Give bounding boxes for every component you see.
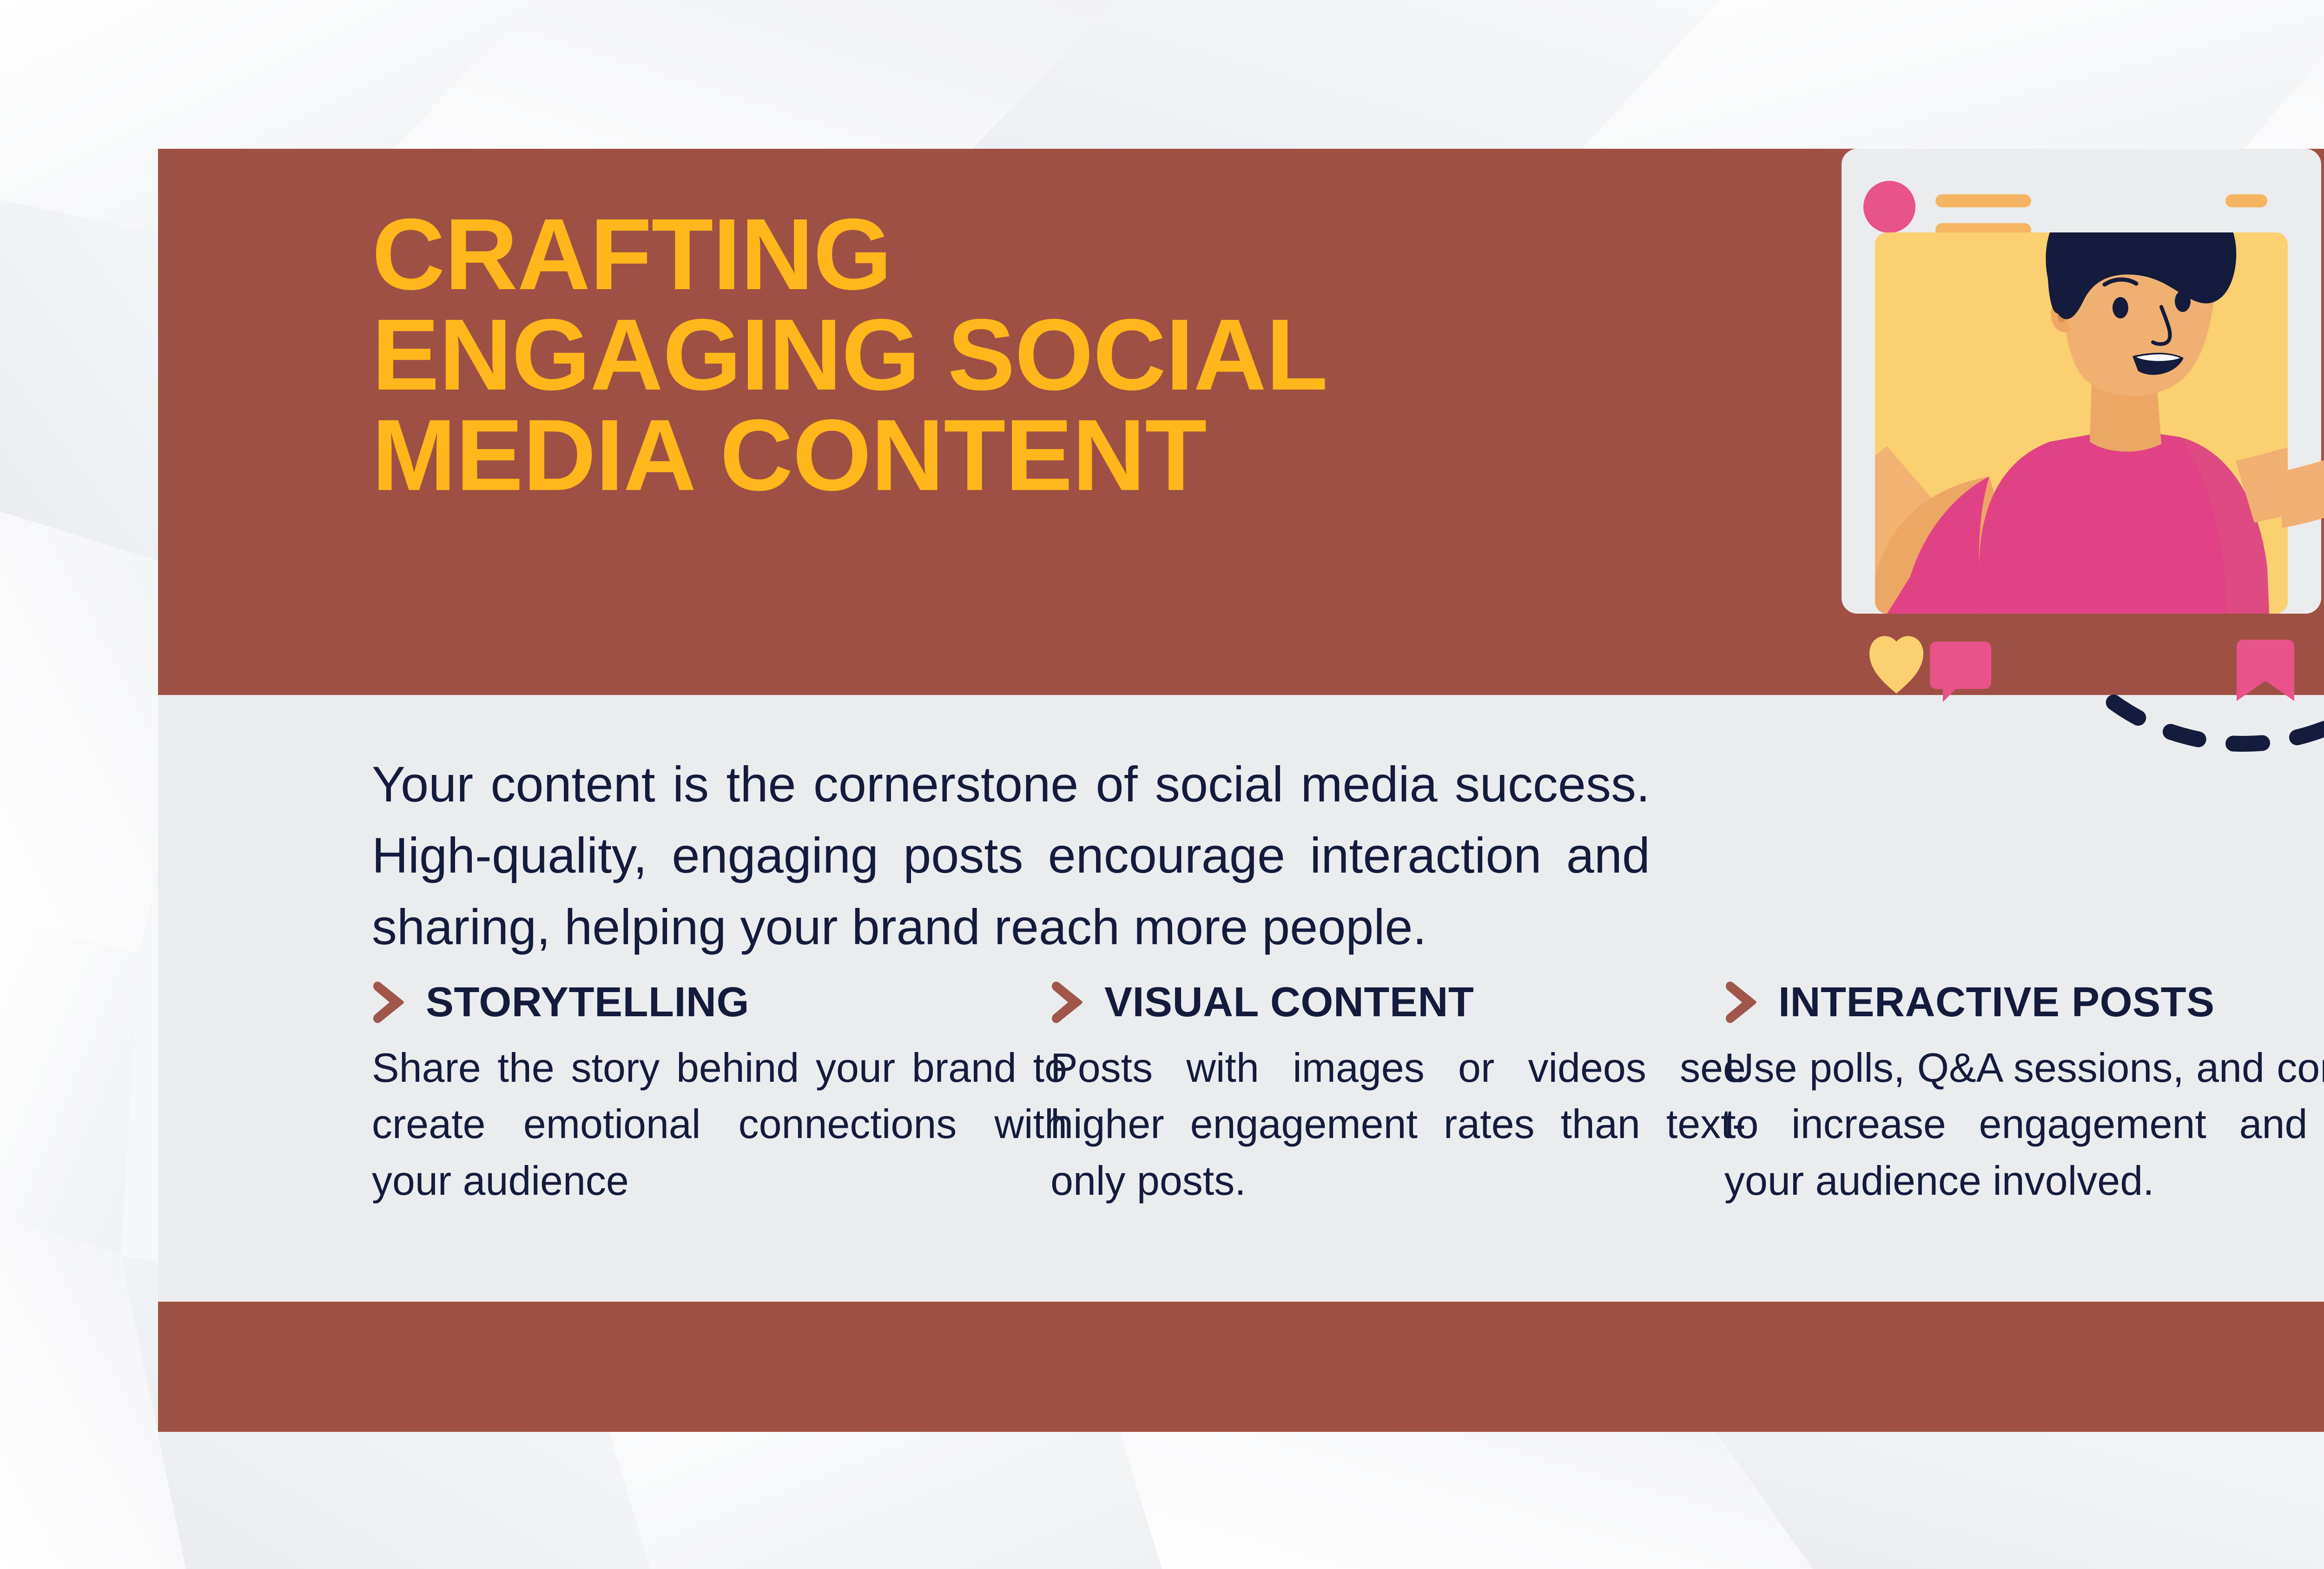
feature-title: INTERACTIVE POSTS xyxy=(1778,979,2215,1026)
feature-title: VISUAL CONTENT xyxy=(1104,979,1474,1026)
feature-heading-row: VISUAL CONTENT xyxy=(1050,981,1715,1024)
feature-column-visual-content: VISUAL CONTENT Posts with images or vide… xyxy=(1050,981,1715,1209)
feature-body: Share the story behind your brand to cre… xyxy=(372,1039,1069,1209)
feature-title: STORYTELLING xyxy=(426,979,749,1026)
feature-heading-row: STORYTELLING xyxy=(372,981,1041,1024)
header-band-backdrop xyxy=(1785,149,2324,695)
feature-heading-row: INTERACTIVE POSTS xyxy=(1724,981,2324,1024)
title-line-2: ENGAGING SOCIAL xyxy=(372,305,1673,405)
feature-body: Use polls, Q&A sessions, and contests to… xyxy=(1724,1039,2324,1209)
page-title: CRAFTING ENGAGING SOCIAL MEDIA CONTENT xyxy=(372,205,1673,505)
feature-columns: STORYTELLING Share the story behind your… xyxy=(372,981,2324,1209)
feature-body: Posts with images or videos see higher e… xyxy=(1050,1039,1748,1209)
feature-column-storytelling: STORYTELLING Share the story behind your… xyxy=(372,981,1041,1209)
infographic-card: CRAFTING ENGAGING SOCIAL MEDIA CONTENT Y… xyxy=(158,149,2324,1432)
title-line-3: MEDIA CONTENT xyxy=(372,405,1673,506)
intro-paragraph: Your content is the cornerstone of socia… xyxy=(372,748,1650,962)
footer-band xyxy=(158,1302,2324,1432)
chevron-right-icon xyxy=(1724,981,1758,1024)
feature-column-interactive-posts: INTERACTIVE POSTS Use polls, Q&A session… xyxy=(1724,981,2324,1209)
title-line-1: CRAFTING xyxy=(372,205,1673,305)
chevron-right-icon xyxy=(1050,981,1084,1024)
chevron-right-icon xyxy=(372,981,405,1024)
